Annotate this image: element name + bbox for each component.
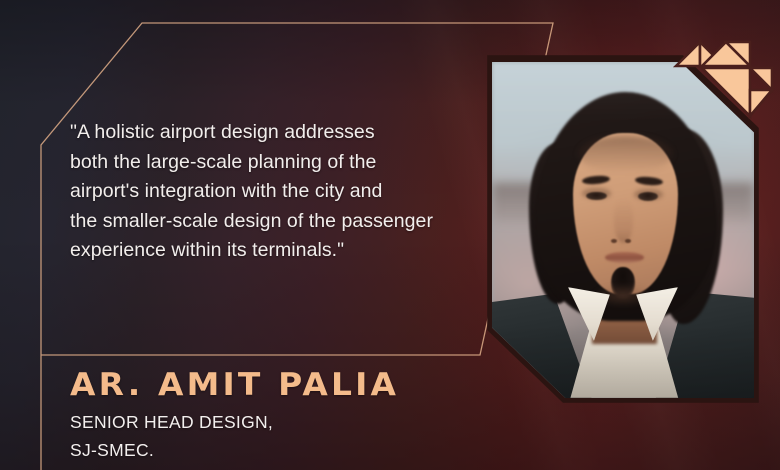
tangram-corner-ornament [672, 30, 776, 142]
author-role: SENIOR HEAD DESIGN, SJ-SMEC. [70, 408, 273, 464]
quote-text: "A holistic airport design addresses bot… [70, 118, 500, 266]
author-name: AR. AMIT PALIA [70, 367, 399, 403]
quote-card: "A holistic airport design addresses bot… [0, 0, 780, 470]
